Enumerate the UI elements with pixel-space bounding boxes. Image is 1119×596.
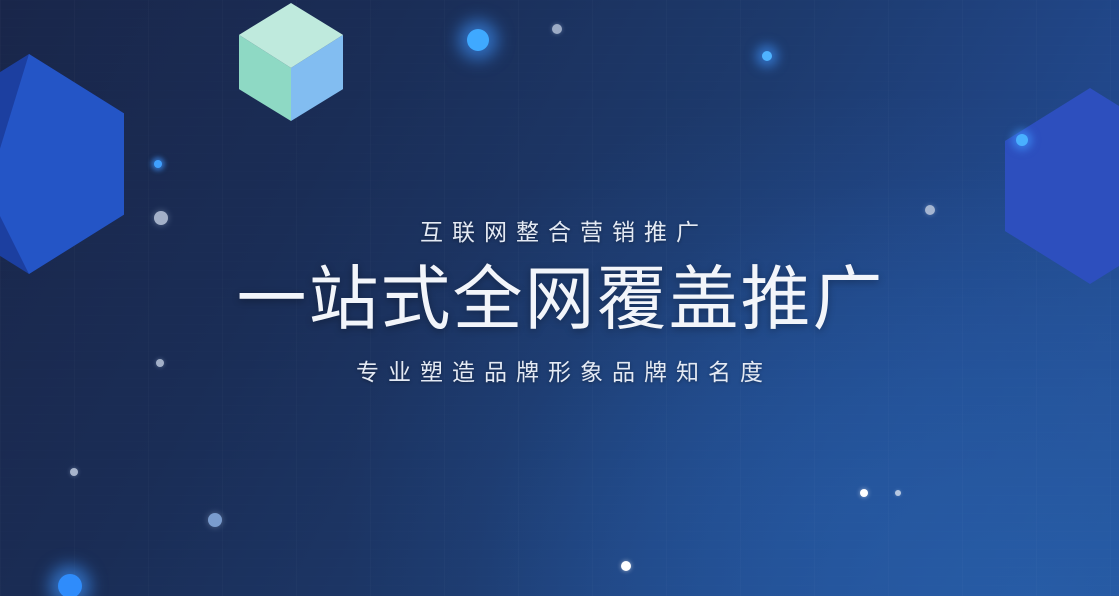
isometric-cube-logo-icon <box>239 3 343 121</box>
hero-text-block: 互联网整合营销推广 一站式全网覆盖推广 专业塑造品牌形象品牌知名度 <box>0 218 1119 387</box>
page-title: 一站式全网覆盖推广 <box>0 262 1119 336</box>
particle-dot <box>762 51 772 61</box>
particle-dot <box>70 468 78 476</box>
particle-dot <box>552 24 562 34</box>
particle-dot <box>860 489 868 497</box>
hero-banner: 互联网整合营销推广 一站式全网覆盖推广 专业塑造品牌形象品牌知名度 <box>0 0 1119 596</box>
particle-dot <box>208 513 222 527</box>
particle-dot <box>1016 134 1028 146</box>
particle-dot <box>925 205 935 215</box>
particle-dot <box>621 561 631 571</box>
particle-dot <box>58 574 82 596</box>
particle-dot <box>154 160 162 168</box>
particle-dot <box>895 490 901 496</box>
tagline-bottom: 专业塑造品牌形象品牌知名度 <box>0 353 1119 387</box>
tagline-top: 互联网整合营销推广 <box>0 218 1119 248</box>
particle-dot <box>467 29 489 51</box>
